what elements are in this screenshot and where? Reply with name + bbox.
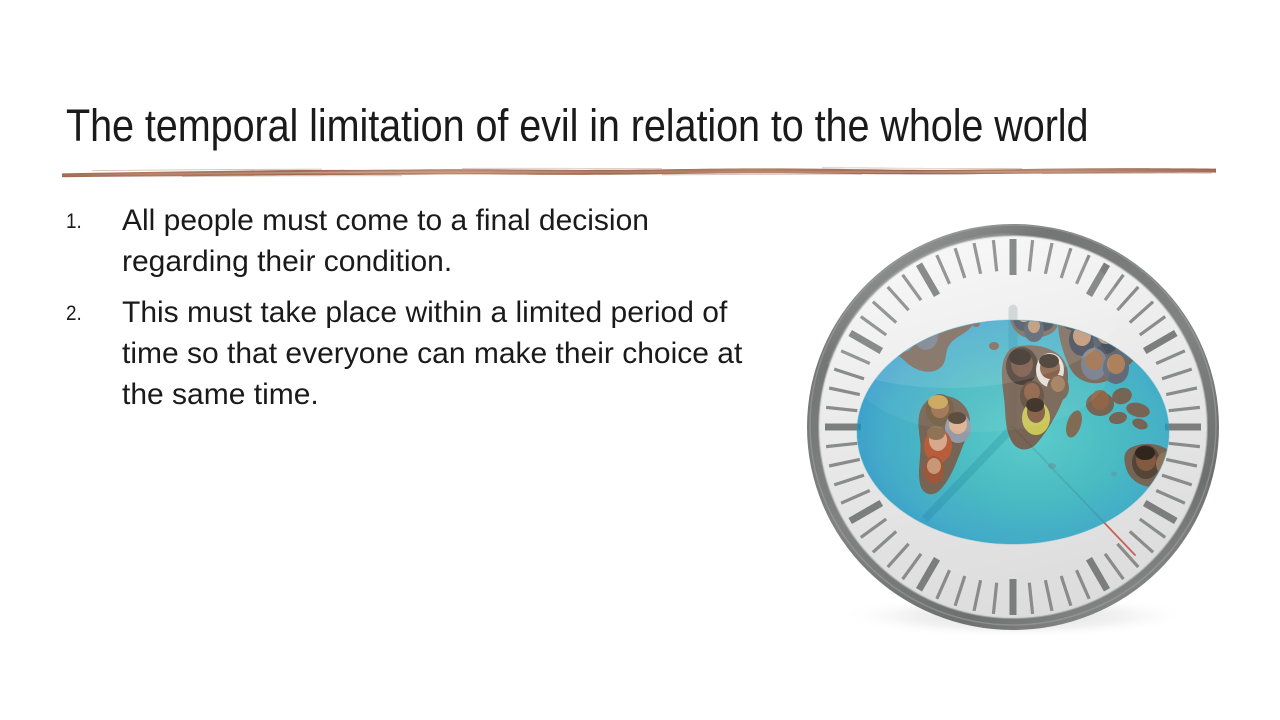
world-clock-image bbox=[800, 218, 1226, 636]
slide-canvas: The temporal limitation of evil in relat… bbox=[0, 0, 1280, 720]
list-item: 2. This must take place within a limited… bbox=[64, 292, 784, 415]
body-numbered-list: 1. All people must come to a final decis… bbox=[64, 200, 784, 425]
list-item: 1. All people must come to a final decis… bbox=[64, 200, 784, 282]
brushstroke-divider bbox=[62, 163, 1216, 181]
list-item-number: 1. bbox=[66, 210, 102, 234]
list-item-number: 2. bbox=[66, 302, 102, 326]
list-item-text: All people must come to a final decision… bbox=[122, 204, 649, 278]
page-title: The temporal limitation of evil in relat… bbox=[66, 98, 1078, 154]
list-item-text: This must take place within a limited pe… bbox=[122, 296, 742, 411]
title-block: The temporal limitation of evil in relat… bbox=[66, 98, 1216, 154]
